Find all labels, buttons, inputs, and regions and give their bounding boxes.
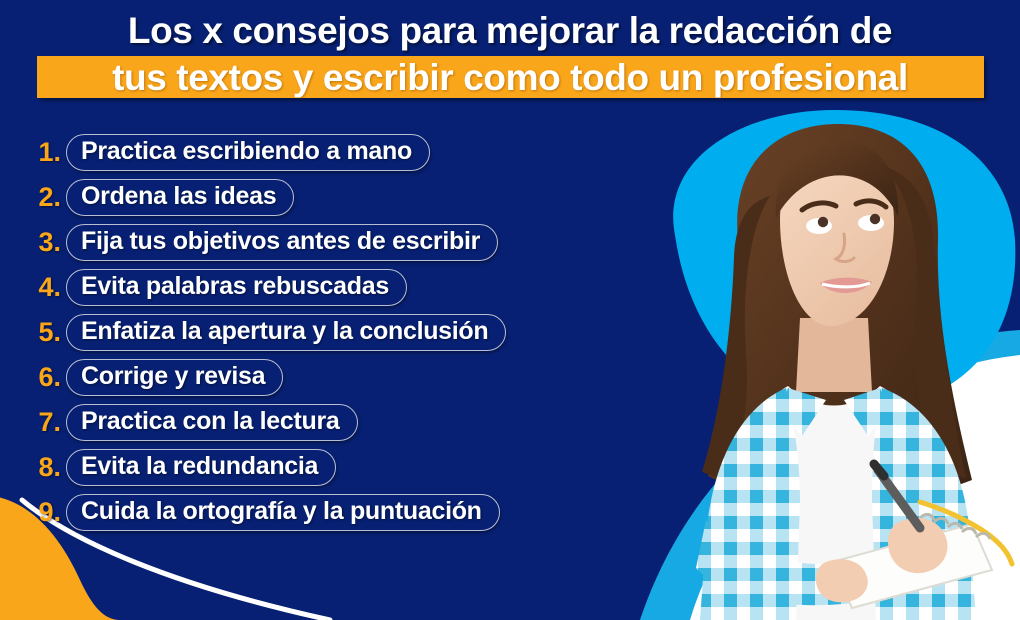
tip-text: Practica escribiendo a mano xyxy=(81,139,412,164)
tips-list: 1. Practica escribiendo a mano 2. Ordena… xyxy=(32,133,506,532)
tip-pill: Fija tus objetivos antes de escribir xyxy=(66,224,498,261)
tip-pill: Ordena las ideas xyxy=(66,179,294,216)
list-item: 8. Evita la redundancia xyxy=(32,448,506,487)
list-item: 3. Fija tus objetivos antes de escribir xyxy=(32,223,506,262)
tip-number: 6. xyxy=(32,364,66,391)
tip-text: Enfatiza la apertura y la conclusión xyxy=(81,319,488,344)
tip-text: Practica con la lectura xyxy=(81,409,340,434)
list-item: 2. Ordena las ideas xyxy=(32,178,506,217)
title-block: Los x consejos para mejorar la redacción… xyxy=(0,10,1020,98)
tip-number: 3. xyxy=(32,229,66,256)
infographic-poster: Los x consejos para mejorar la redacción… xyxy=(0,0,1020,620)
woman-illustration xyxy=(620,100,1020,620)
title-line-1: Los x consejos para mejorar la redacción… xyxy=(0,10,1020,51)
list-item: 9. Cuida la ortografía y la puntuación xyxy=(32,493,506,532)
pupil-right xyxy=(870,214,880,224)
tip-text: Cuida la ortografía y la puntuación xyxy=(81,499,482,524)
tip-number: 4. xyxy=(32,274,66,301)
list-item: 7. Practica con la lectura xyxy=(32,403,506,442)
tip-text: Evita la redundancia xyxy=(81,454,318,479)
tip-text: Fija tus objetivos antes de escribir xyxy=(81,229,480,254)
title-line-2: tus textos y escribir como todo un profe… xyxy=(112,59,908,96)
list-item: 4. Evita palabras rebuscadas xyxy=(32,268,506,307)
tip-pill: Practica con la lectura xyxy=(66,404,358,441)
tip-number: 7. xyxy=(32,409,66,436)
tip-text: Evita palabras rebuscadas xyxy=(81,274,389,299)
tip-pill: Evita la redundancia xyxy=(66,449,336,486)
tip-pill: Corrige y revisa xyxy=(66,359,283,396)
tip-number: 5. xyxy=(32,319,66,346)
list-item: 1. Practica escribiendo a mano xyxy=(32,133,506,172)
tip-number: 2. xyxy=(32,184,66,211)
tip-text: Corrige y revisa xyxy=(81,364,265,389)
pupil-left xyxy=(818,217,828,227)
tip-number: 8. xyxy=(32,454,66,481)
tip-number: 9. xyxy=(32,499,66,526)
tip-text: Ordena las ideas xyxy=(81,184,276,209)
tip-pill: Evita palabras rebuscadas xyxy=(66,269,407,306)
tip-number: 1. xyxy=(32,139,66,166)
photo-woman-writing xyxy=(620,100,1020,620)
tip-pill: Enfatiza la apertura y la conclusión xyxy=(66,314,506,351)
list-item: 6. Corrige y revisa xyxy=(32,358,506,397)
title-highlight-bar: tus textos y escribir como todo un profe… xyxy=(37,56,984,98)
tip-pill: Practica escribiendo a mano xyxy=(66,134,430,171)
neck xyxy=(796,318,872,392)
list-item: 5. Enfatiza la apertura y la conclusión xyxy=(32,313,506,352)
tip-pill: Cuida la ortografía y la puntuación xyxy=(66,494,500,531)
